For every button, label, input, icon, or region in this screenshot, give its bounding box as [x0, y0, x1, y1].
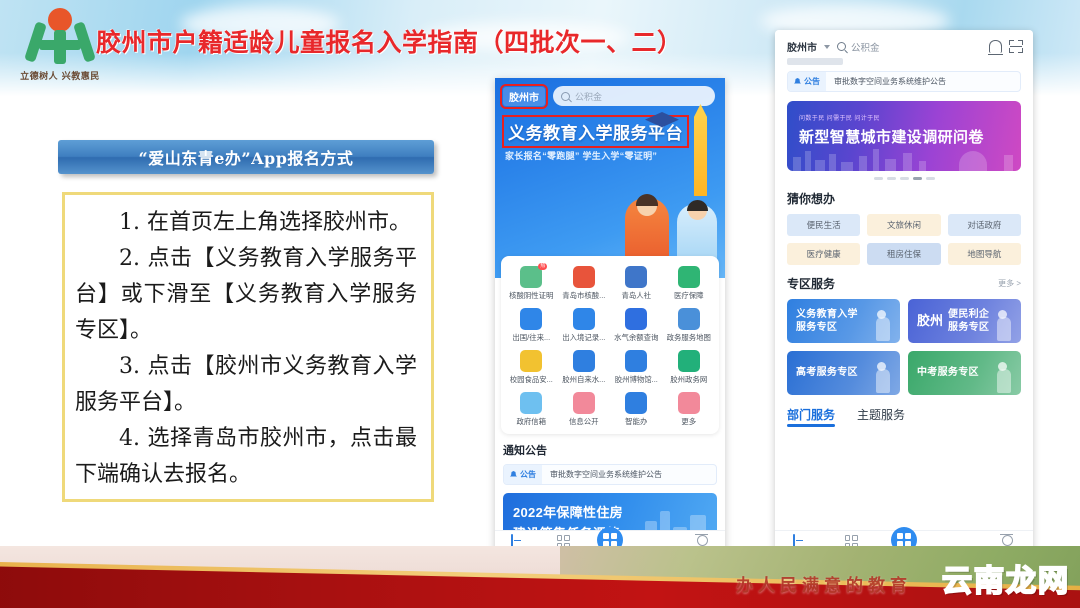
survey-banner[interactable]: 问数于民 问需于民 问计于民 新型智慧城市建设调研问卷 [787, 101, 1021, 171]
service-tabs: 部门服务主题服务 [787, 406, 1021, 427]
service-label: 政府信箱 [516, 417, 546, 426]
service-label: 胶州自来水... [562, 375, 605, 384]
service-item[interactable]: 政务服务地图 [663, 308, 716, 342]
search-input[interactable]: 公积金 [553, 86, 715, 106]
search-icon [561, 92, 570, 101]
notice-row[interactable]: 公告 审批数字空间业务系统维护公告 [503, 464, 717, 485]
partial-heading-clipped [775, 58, 1033, 67]
service-item[interactable]: 信息公开 [558, 392, 611, 426]
carousel-dots[interactable] [775, 177, 1033, 180]
chevron-down-icon[interactable] [824, 45, 830, 49]
service-label: 胶州博物馆... [615, 375, 658, 384]
instruction-step: 1. 在首页左上角选择胶州市。 [75, 205, 417, 241]
zone-section-header: 专区服务 更多 > [787, 275, 1021, 292]
zone-card[interactable]: 义务教育入学服务专区 [787, 299, 900, 343]
service-label: 智能办 [625, 417, 647, 426]
search-placeholder: 公积金 [851, 40, 880, 54]
zone-card-prefix: 胶州 [917, 314, 943, 328]
zone-card-illustration [983, 357, 1017, 395]
zone-card[interactable]: 中考服务专区 [908, 351, 1021, 395]
logo-mark-icon [17, 6, 103, 68]
ribbon-label: “爱山东青e办”App报名方式 [139, 145, 354, 169]
instructions-box: 1. 在首页左上角选择胶州市。 2. 点击【义务教育入学服务平台】或下滑至【义务… [62, 192, 434, 502]
search-input[interactable]: 公积金 [837, 40, 982, 54]
badge: 热 [538, 263, 547, 270]
service-label: 信息公开 [569, 417, 599, 426]
service-item[interactable]: 胶州博物馆... [610, 350, 663, 384]
scan-icon[interactable] [1009, 40, 1023, 53]
instruction-step: 2. 点击【义务教育入学服务平台】或下滑至【义务教育入学服务专区】。 [75, 241, 417, 349]
guess-section-header: 猜你想办 [787, 190, 1021, 207]
star-badge-icon [678, 350, 700, 372]
zone-card-grid: 义务教育入学服务专区胶州便民利企服务专区高考服务专区中考服务专区 [787, 299, 1021, 395]
hero-title[interactable]: 义务教育入学服务平台 [505, 118, 686, 145]
zone-card-title: 义务教育入学服务专区 [796, 308, 858, 334]
guess-tag[interactable]: 对话政府 [948, 214, 1021, 236]
service-label: 校园食品安... [510, 375, 553, 384]
page-title: 胶州市户籍适龄儿童报名入学指南（四批次一、二） [96, 26, 636, 60]
app-header: 胶州市 公积金 [775, 30, 1033, 58]
service-label: 水气余额查询 [614, 333, 658, 342]
notice-section: 通知公告 公告 审批数字空间业务系统维护公告 [495, 434, 725, 485]
notice-tag-label: 公告 [520, 469, 536, 480]
service-item[interactable]: 胶州自来水... [558, 350, 611, 384]
phone-screenshot-right: 胶州市 公积金 公告 审批数字空间业务系统维护公告 [775, 30, 1033, 568]
open-book-icon [573, 392, 595, 414]
service-item[interactable]: 水气余额查询 [610, 308, 663, 342]
bell-icon [510, 471, 517, 478]
app-hero-banner: 胶州市 公积金 义务教育入学服务平台 家长报名“零跑腿” 学生入学“零证明” [495, 78, 725, 278]
notice-tag-label: 公告 [804, 76, 820, 87]
service-label: 政务服务地图 [667, 333, 711, 342]
notification-bell-icon[interactable] [989, 40, 1002, 53]
service-item[interactable]: 政府信箱 [505, 392, 558, 426]
service-item[interactable]: 医疗保障 [663, 266, 716, 300]
service-label: 胶州政务网 [670, 375, 707, 384]
city-selector[interactable]: 胶州市 [787, 39, 817, 54]
hero-subtitle: 家长报名“零跑腿” 学生入学“零证明” [505, 149, 725, 162]
watermark: 云南龙网 [942, 556, 1070, 600]
guess-tag[interactable]: 文旅休闲 [867, 214, 940, 236]
zone-card[interactable]: 胶州便民利企服务专区 [908, 299, 1021, 343]
bell-icon [794, 78, 801, 85]
service-label: 青岛市核酸... [562, 291, 605, 300]
footer-slogan: 办人民满意的教育 [736, 571, 912, 596]
phone-screenshot-left: 胶州市 公积金 义务教育入学服务平台 家长报名“零跑腿” 学生入学“零证明” 热… [495, 78, 725, 568]
notice-tag: 公告 [788, 72, 826, 91]
service-icon-card: 热核酸阴性证明青岛市核酸...青岛人社医疗保障出国/往来...出入境记录...水… [501, 256, 719, 434]
guess-tag[interactable]: 医疗健康 [787, 243, 860, 265]
guess-tag[interactable]: 便民生活 [787, 214, 860, 236]
briefcase-icon [625, 266, 647, 288]
guess-tag-grid: 便民生活文旅休闲对话政府医疗健康租房住保地图导航 [787, 214, 1021, 265]
zone-more-link[interactable]: 更多 > [998, 278, 1021, 289]
zone-card-title: 高考服务专区 [796, 366, 858, 379]
instruction-step: 3. 点击【胶州市义务教育入学服务平台】。 [75, 349, 417, 421]
zone-card-illustration [862, 357, 896, 395]
footer-band [0, 546, 1080, 608]
search-placeholder: 公积金 [575, 90, 602, 103]
more-grid-icon [678, 392, 700, 414]
service-label: 医疗保障 [674, 291, 704, 300]
mailbox-icon [520, 392, 542, 414]
presentation-slide: 立德树人 兴教惠民 胶州市户籍适龄儿童报名入学指南（四批次一、二） “爱山东青e… [0, 0, 1080, 608]
service-item[interactable]: 出入境记录... [558, 308, 611, 342]
city-selector[interactable]: 胶州市 [503, 87, 545, 106]
service-item[interactable]: 热核酸阴性证明 [505, 266, 558, 300]
service-label: 出入境记录... [562, 333, 605, 342]
service-item[interactable]: 校园食品安... [505, 350, 558, 384]
zone-card[interactable]: 高考服务专区 [787, 351, 900, 395]
service-icon-grid: 热核酸阴性证明青岛市核酸...青岛人社医疗保障出国/往来...出入境记录...水… [505, 266, 715, 426]
shield-icon [520, 350, 542, 372]
zone-card-title: 中考服务专区 [917, 366, 979, 379]
water-drop-icon [625, 308, 647, 330]
service-item[interactable]: 智能办 [610, 392, 663, 426]
id-card-icon [520, 308, 542, 330]
notice-row[interactable]: 公告 审批数字空间业务系统维护公告 [787, 71, 1021, 92]
service-label: 更多 [681, 417, 696, 426]
instruction-step: 4. 选择青岛市胶州市，点击最下端确认去报名。 [75, 421, 417, 493]
guess-tag[interactable]: 租房住保 [867, 243, 940, 265]
notice-text: 审批数字空间业务系统维护公告 [542, 469, 662, 480]
guess-tag[interactable]: 地图导航 [948, 243, 1021, 265]
medkit-icon [678, 266, 700, 288]
search-icon [837, 42, 846, 51]
service-label: 青岛人社 [621, 291, 651, 300]
service-item[interactable]: 胶州政务网 [663, 350, 716, 384]
service-item[interactable]: 青岛人社 [610, 266, 663, 300]
nucleic-acid-icon: 热 [520, 266, 542, 288]
skyline-illustration [787, 141, 1021, 171]
document-search-icon [573, 308, 595, 330]
service-label: 出国/往来... [512, 333, 550, 342]
notice-heading: 通知公告 [503, 442, 717, 458]
guess-heading: 猜你想办 [787, 190, 835, 207]
service-tab[interactable]: 部门服务 [787, 406, 835, 427]
service-item[interactable]: 更多 [663, 392, 716, 426]
museum-icon [625, 350, 647, 372]
zone-card-title: 便民利企服务专区 [948, 308, 989, 334]
notice-tag: 公告 [504, 465, 542, 484]
notice-section: 公告 审批数字空间业务系统维护公告 [787, 71, 1021, 92]
logo-motto: 立德树人 兴教惠民 [8, 69, 112, 82]
test-tube-icon [573, 266, 595, 288]
cloud-icon [625, 392, 647, 414]
map-pin-icon [678, 308, 700, 330]
zone-heading: 专区服务 [787, 275, 835, 292]
service-item[interactable]: 青岛市核酸... [558, 266, 611, 300]
notice-text: 审批数字空间业务系统维护公告 [826, 76, 946, 87]
service-label: 核酸阴性证明 [509, 291, 553, 300]
section-ribbon: “爱山东青e办”App报名方式 [58, 140, 434, 174]
water-drop-icon [573, 350, 595, 372]
zone-card-illustration [862, 305, 896, 343]
banner-subtitle: 问数于民 问需于民 问计于民 [799, 113, 1021, 122]
service-item[interactable]: 出国/往来... [505, 308, 558, 342]
service-tab[interactable]: 主题服务 [857, 406, 905, 427]
